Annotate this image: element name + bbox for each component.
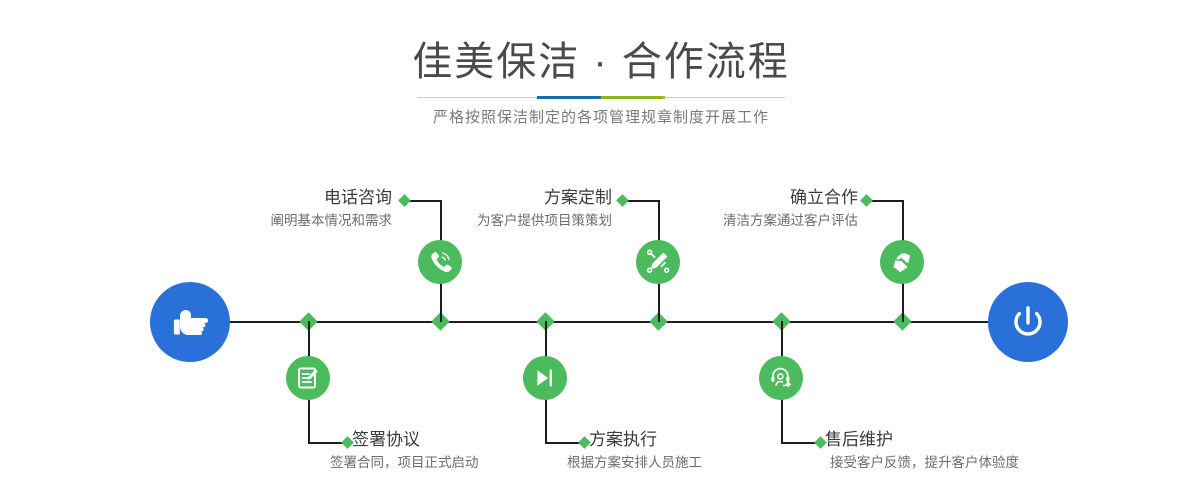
divider-accent-green	[601, 96, 665, 99]
handshake-icon	[889, 249, 915, 275]
signed-document-icon	[295, 365, 321, 391]
divider-right-line	[663, 97, 785, 98]
flow-start-node[interactable]	[150, 282, 230, 362]
page-subtitle: 严格按照保洁制定的各项管理规章制度开展工作	[0, 106, 1202, 130]
step-label-3: 方案定制 为客户提供项目策策划	[350, 186, 612, 232]
flow-diagram-canvas: 佳美保洁 · 合作流程 严格按照保洁制定的各项管理规章制度开展工作	[0, 0, 1202, 502]
flow-end-node[interactable]	[988, 282, 1068, 362]
step-desc-6: 接受客户反馈，提升客户体验度	[830, 452, 1155, 474]
step-label-5: 确立合作 清洁方案通过客户评估	[596, 186, 858, 232]
step-title-5: 确立合作	[596, 186, 858, 210]
support-agent-icon	[768, 365, 794, 391]
step-desc-3: 为客户提供项目策策划	[350, 210, 612, 232]
play-execute-icon	[532, 365, 558, 391]
divider-accent-blue	[537, 96, 601, 99]
step-title-3: 方案定制	[350, 186, 612, 210]
step-node-1[interactable]	[418, 240, 462, 284]
step-node-5[interactable]	[880, 240, 924, 284]
step-node-4[interactable]	[523, 356, 567, 400]
step-desc-5: 清洁方案通过客户评估	[596, 210, 858, 232]
step-title-6: 售后维护	[825, 428, 1155, 452]
step-node-6[interactable]	[759, 356, 803, 400]
page-title: 佳美保洁 · 合作流程	[0, 38, 1202, 86]
divider-left-line	[417, 97, 539, 98]
step-label-6: 售后维护 接受客户反馈，提升客户体验度	[825, 428, 1155, 474]
connector-tip-5	[860, 194, 873, 207]
power-button-icon	[1006, 300, 1050, 344]
step-node-3[interactable]	[636, 240, 680, 284]
pencil-design-icon	[645, 249, 671, 275]
pointing-hand-icon	[168, 302, 212, 342]
title-divider	[417, 96, 785, 99]
phone-call-icon	[427, 249, 453, 275]
step-node-2[interactable]	[286, 356, 330, 400]
